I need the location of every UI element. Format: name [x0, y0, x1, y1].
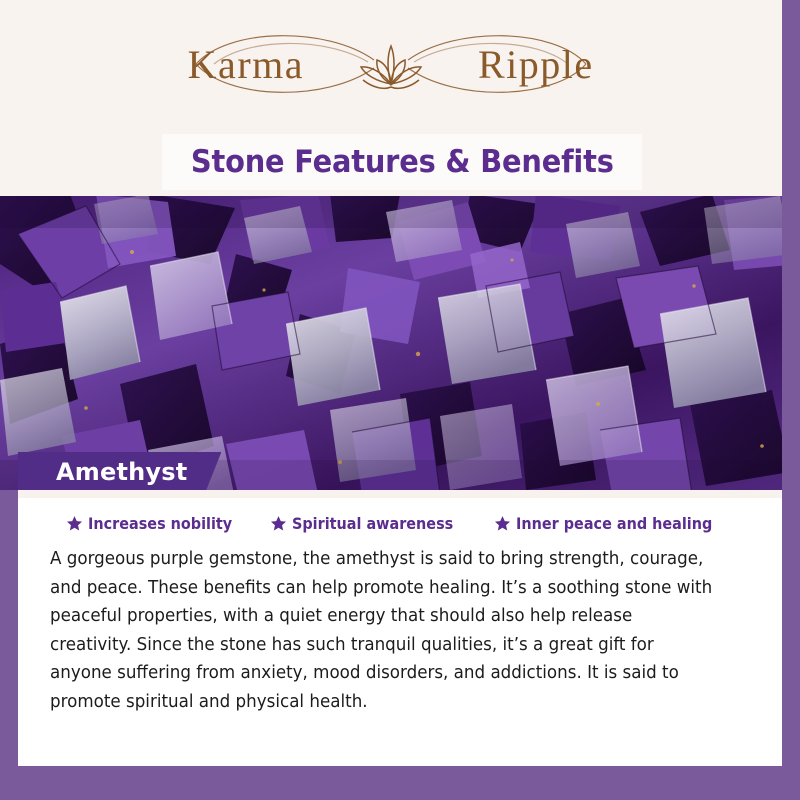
- content-panel: Increases nobility Spiritual awareness I…: [18, 494, 782, 766]
- title-plate: Stone Features & Benefits: [162, 134, 642, 190]
- benefit-label-2: Spiritual awareness: [292, 514, 453, 533]
- product-infographic-card: Karma Ripple Stone Features & Benefits: [0, 0, 800, 800]
- brand-logo-artwork: Karma Ripple: [156, 22, 626, 108]
- star-icon: [66, 515, 83, 532]
- stone-description: A gorgeous purple gemstone, the amethyst…: [50, 545, 734, 716]
- lotus-icon: [361, 46, 421, 88]
- stone-name-label: Amethyst: [56, 458, 187, 486]
- stone-photo: [0, 194, 800, 494]
- star-icon: [270, 515, 287, 532]
- benefits-list: Increases nobility Spiritual awareness I…: [34, 494, 766, 541]
- frame-border-right: [782, 0, 800, 800]
- stone-name-banner: Amethyst: [18, 452, 221, 492]
- star-icon: [494, 515, 511, 532]
- panel-top-strip: [18, 490, 782, 498]
- page-title: Stone Features & Benefits: [191, 144, 614, 180]
- benefit-item-1: Increases nobility: [66, 514, 248, 533]
- frame-corner-notch: [772, 756, 782, 766]
- amethyst-crystal-cluster-image: [0, 194, 800, 494]
- benefit-item-2: Spiritual awareness: [270, 514, 471, 533]
- benefit-label-1: Increases nobility: [88, 514, 232, 533]
- frame-border-bottom: [0, 766, 800, 800]
- benefit-item-3: Inner peace and healing: [494, 514, 734, 533]
- brand-name-left: Karma: [188, 42, 304, 87]
- benefit-label-3: Inner peace and healing: [516, 514, 712, 533]
- frame-border-left: [0, 490, 18, 800]
- brand-logo: Karma Ripple: [0, 22, 782, 108]
- brand-name-right: Ripple: [478, 42, 594, 87]
